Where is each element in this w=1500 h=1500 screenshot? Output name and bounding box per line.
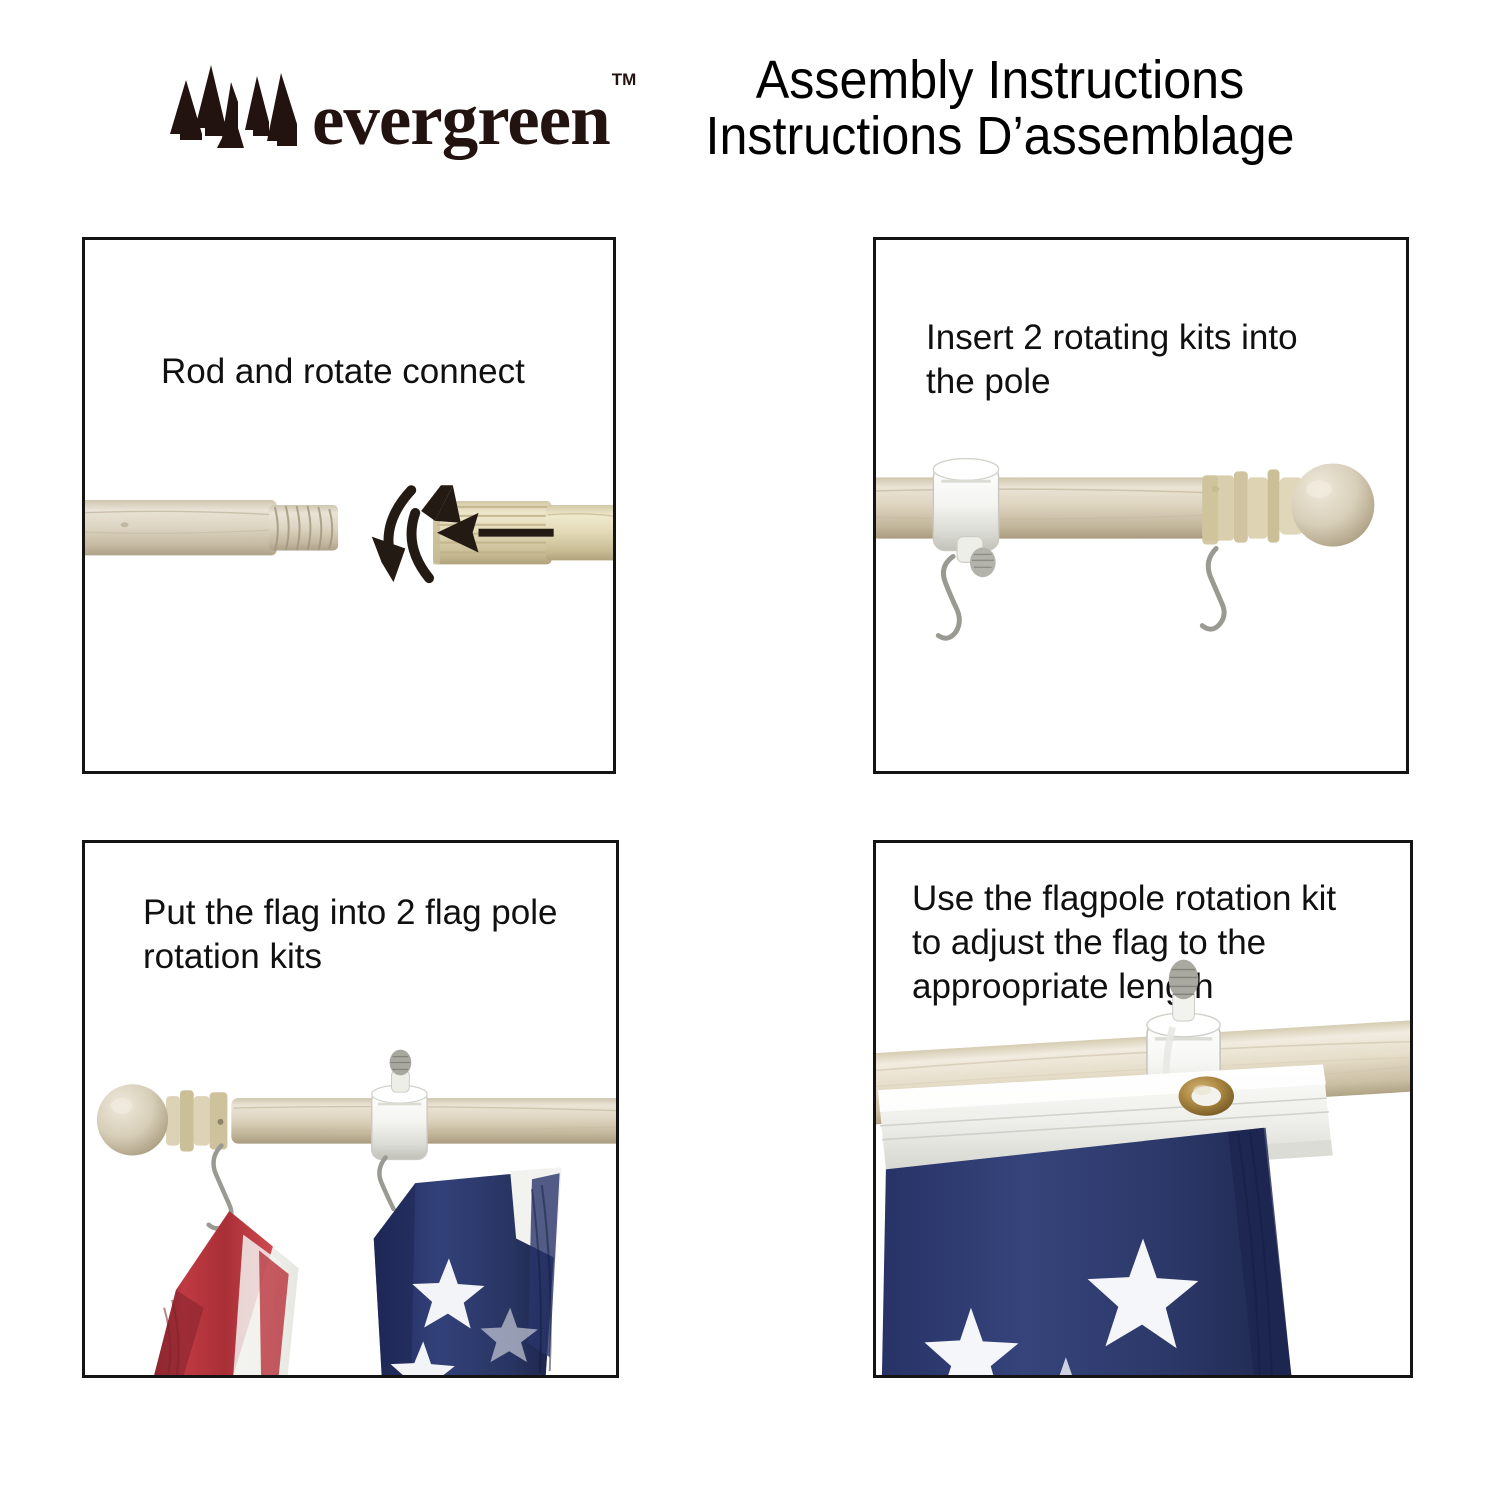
trademark-mark: TM (612, 70, 637, 90)
flag-into-rotation-kits-illustration (85, 843, 616, 1375)
instruction-panel-4: Use the flagpole rotation kit to adjust … (873, 840, 1413, 1378)
thumbscrew (390, 1050, 412, 1093)
brass-grommet (1179, 1076, 1234, 1116)
instruction-panel-3: Put the flag into 2 flag pole rotation k… (82, 840, 619, 1378)
title-line-english: Assembly Instructions (665, 52, 1335, 108)
pine-trees-icon (168, 62, 298, 150)
instruction-panel-2: Insert 2 rotating kits into the pole (873, 237, 1409, 774)
s-hook-right (1202, 549, 1224, 630)
pole (876, 477, 1221, 538)
adjust-flag-length-illustration (876, 843, 1410, 1375)
insert-rotating-kits-illustration (876, 240, 1406, 771)
ball-finial (1291, 463, 1374, 546)
rotating-kit-clamp-left (933, 459, 998, 639)
clamp-s-hook (379, 1157, 393, 1208)
rotate-arrow-clockwise (372, 490, 412, 582)
instruction-panel-1: Rod and rotate connect (82, 237, 616, 774)
threaded-collar (269, 505, 338, 550)
evergreen-logo: evergreen TM (168, 62, 636, 150)
thumbscrew (1169, 960, 1199, 1021)
page-title: Assembly Instructions Instructions D’ass… (640, 52, 1360, 164)
flag-stripes-section (154, 1211, 298, 1375)
title-line-french: Instructions D’assemblage (665, 108, 1335, 164)
ball-finial (97, 1084, 228, 1155)
page-header: evergreen TM Assembly Instructions Instr… (0, 0, 1500, 215)
brand-wordmark: evergreen (312, 90, 610, 150)
flag-star-field-section (374, 1167, 562, 1375)
flag-star-field (882, 1128, 1291, 1375)
rod-rotate-connect-illustration (85, 240, 613, 771)
thumbscrew (970, 548, 996, 578)
s-hook-left (938, 556, 959, 638)
rod-segment-left (85, 500, 277, 555)
